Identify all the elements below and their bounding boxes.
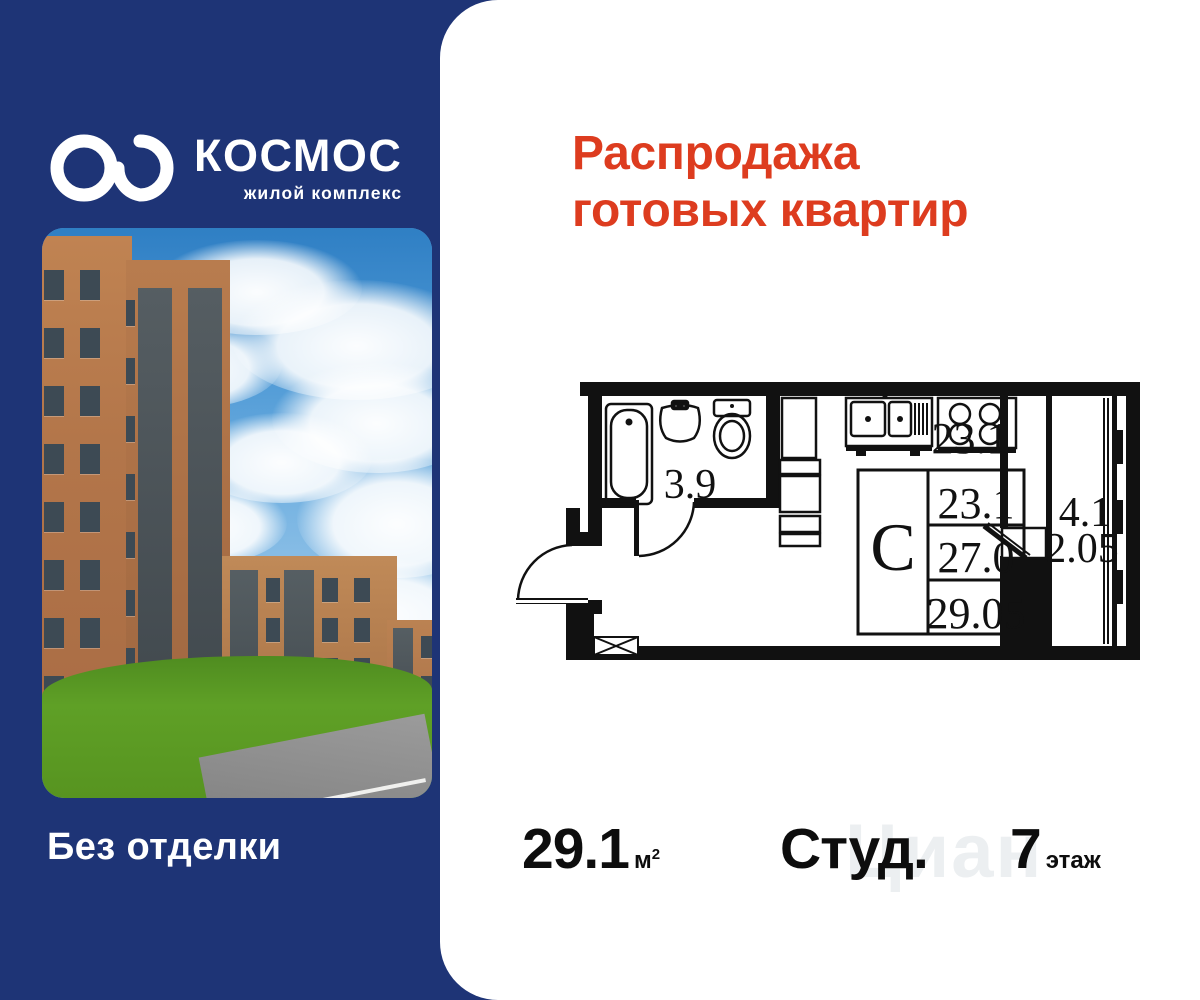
- headline-line-1: Распродажа: [572, 125, 1132, 182]
- headline-line-2: готовых квартир: [572, 182, 1132, 239]
- plan-bathroom-area: 3.9: [664, 462, 717, 508]
- finish-type-label: Без отделки: [47, 826, 281, 869]
- bathtub-icon: [606, 404, 652, 504]
- plan-table-row-0: 23.1: [938, 479, 1015, 528]
- plan-balcony-area-reduced: 2.05: [1045, 526, 1119, 572]
- spec-area-value: 29.1: [522, 816, 629, 882]
- spec-area-unit: м2: [634, 846, 660, 875]
- brand-name: КОСМОС: [194, 132, 402, 179]
- spec-rooms-value: Студ.: [780, 816, 928, 882]
- plan-table-row-2: 29.05: [927, 589, 1026, 638]
- wardrobe-icon: [780, 398, 820, 546]
- riser-hatch-icon: [594, 637, 638, 655]
- plan-living-area: 23.1: [932, 414, 1009, 463]
- complex-photo: [42, 228, 432, 798]
- spec-rooms: Студ.: [780, 816, 928, 882]
- bathroom-door-icon: [634, 500, 694, 556]
- ad-card-root: КОСМОС жилой комплекс: [0, 0, 1200, 1000]
- toilet-icon: [714, 400, 750, 458]
- floor-plan: С 23.1 27.0 29.05 3.9 23.1 4.1 2.05: [510, 360, 1180, 680]
- spec-floor-value: 7: [1010, 816, 1041, 882]
- brand-subtitle: жилой комплекс: [194, 183, 402, 204]
- spec-floor-unit: этаж: [1046, 847, 1101, 875]
- spec-area: 29.1 м2: [522, 816, 660, 882]
- page-title: Распродажа готовых квартир: [572, 125, 1132, 239]
- infinity-rings-icon: [48, 133, 176, 203]
- entry-door-icon: [516, 545, 588, 604]
- plan-table-type: С: [870, 509, 915, 585]
- brand-block: КОСМОС жилой комплекс: [48, 120, 448, 216]
- specs-bar: 29.1 м2 Студ. 7 этаж: [510, 806, 1180, 902]
- plan-table-row-1: 27.0: [938, 533, 1015, 582]
- washbasin-icon: [660, 401, 700, 442]
- kitchen-sink-icon: [846, 394, 932, 457]
- spec-floor: 7 этаж: [1010, 816, 1101, 882]
